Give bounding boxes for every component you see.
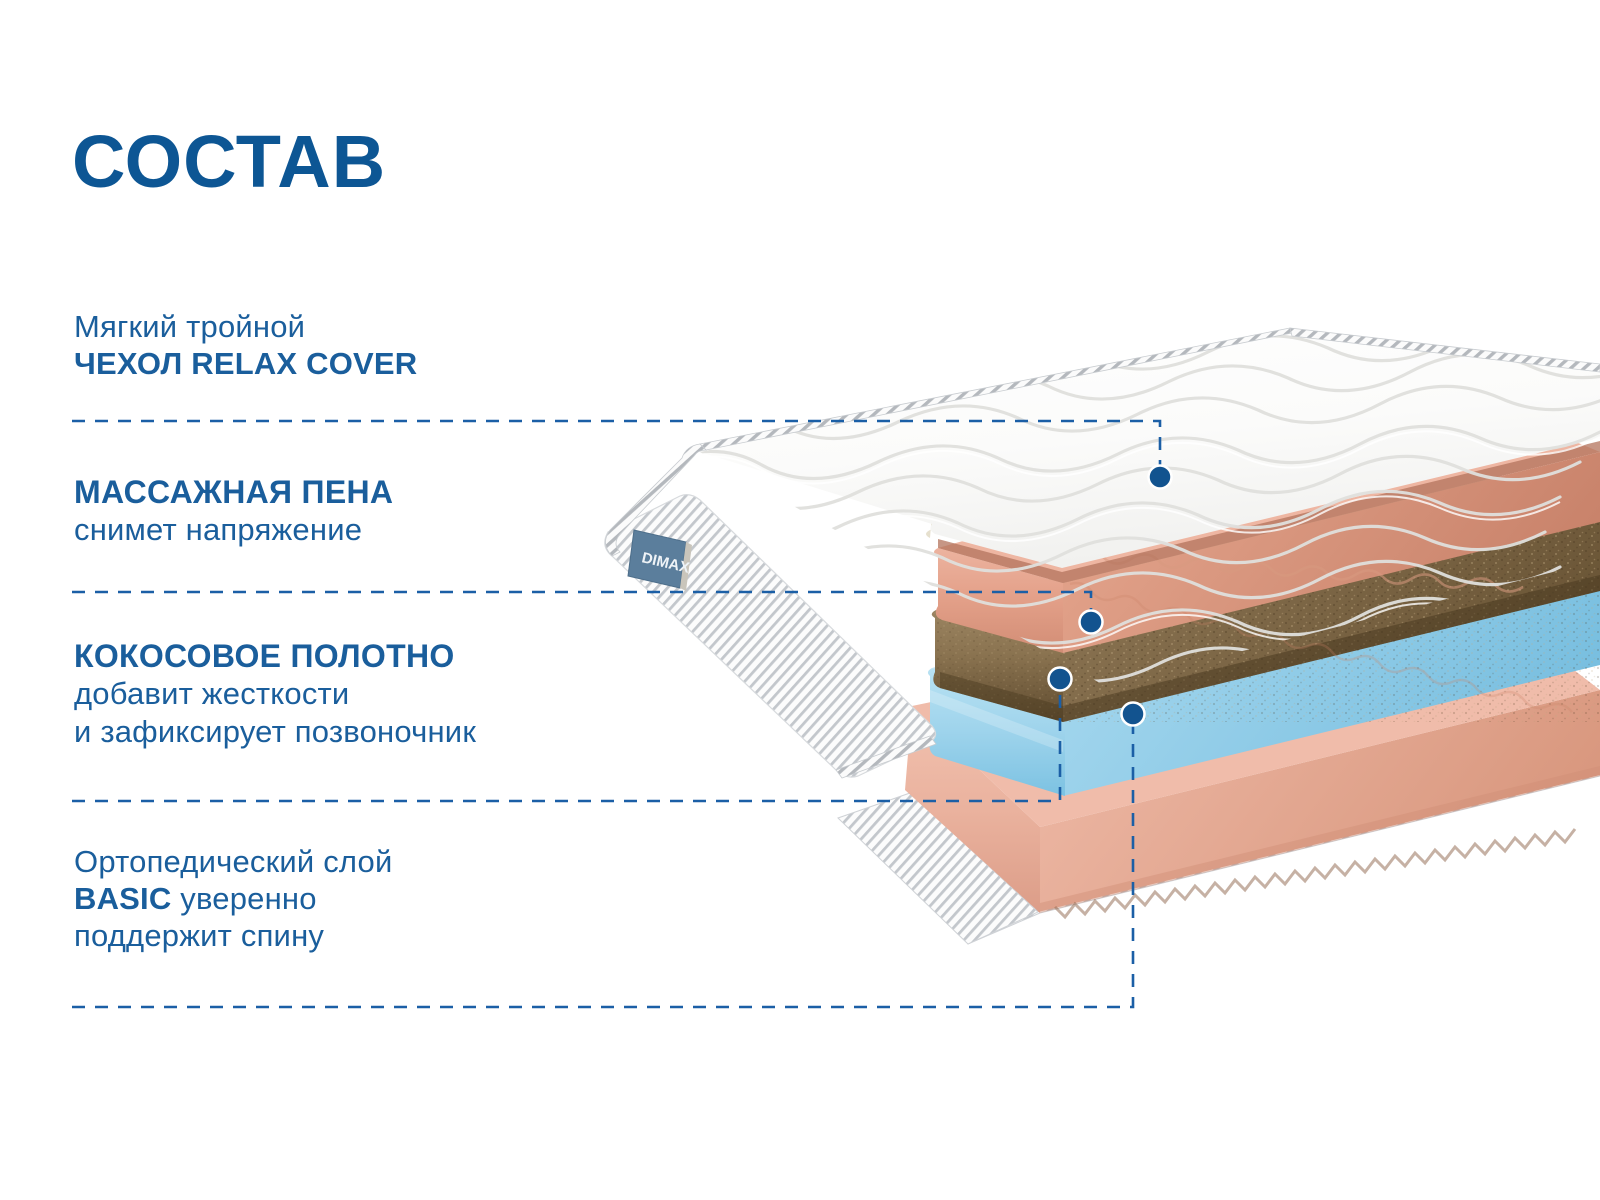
page-title: СОСТАВ <box>72 125 386 199</box>
callout-basic: Ортопедический слой BASIC уверенно подде… <box>74 843 393 955</box>
callout-cover-line1: Мягкий тройной <box>74 308 417 345</box>
callout-massage-foam-line2: снимет напряжение <box>74 511 393 548</box>
callout-cover-line2: ЧЕХОЛ RELAX COVER <box>74 345 417 382</box>
callout-basic-line1: Ортопедический слой <box>74 843 393 880</box>
callout-coir-line1: КОКОСОВОЕ ПОЛОТНО <box>74 637 476 675</box>
callout-coir: КОКОСОВОЕ ПОЛОТНО добавит жесткости и за… <box>74 637 476 750</box>
callout-coir-line3: и зафиксирует позвоночник <box>74 713 476 750</box>
infographic-canvas: DIMAX СОСТАВ Мягкий тройной ЧЕХОЛ RELAX … <box>0 0 1600 1200</box>
callout-basic-line2: BASIC уверенно <box>74 880 393 917</box>
callout-cover: Мягкий тройной ЧЕХОЛ RELAX COVER <box>74 308 417 382</box>
callout-coir-line2: добавит жесткости <box>74 675 476 712</box>
callout-basic-keyword: BASIC <box>74 881 171 916</box>
callout-massage-foam-line1: МАССАЖНАЯ ПЕНА <box>74 473 393 511</box>
callout-basic-line3: поддержит спину <box>74 917 393 954</box>
callout-massage-foam: МАССАЖНАЯ ПЕНА снимет напряжение <box>74 473 393 549</box>
callout-basic-line2-rest: уверенно <box>171 881 316 916</box>
